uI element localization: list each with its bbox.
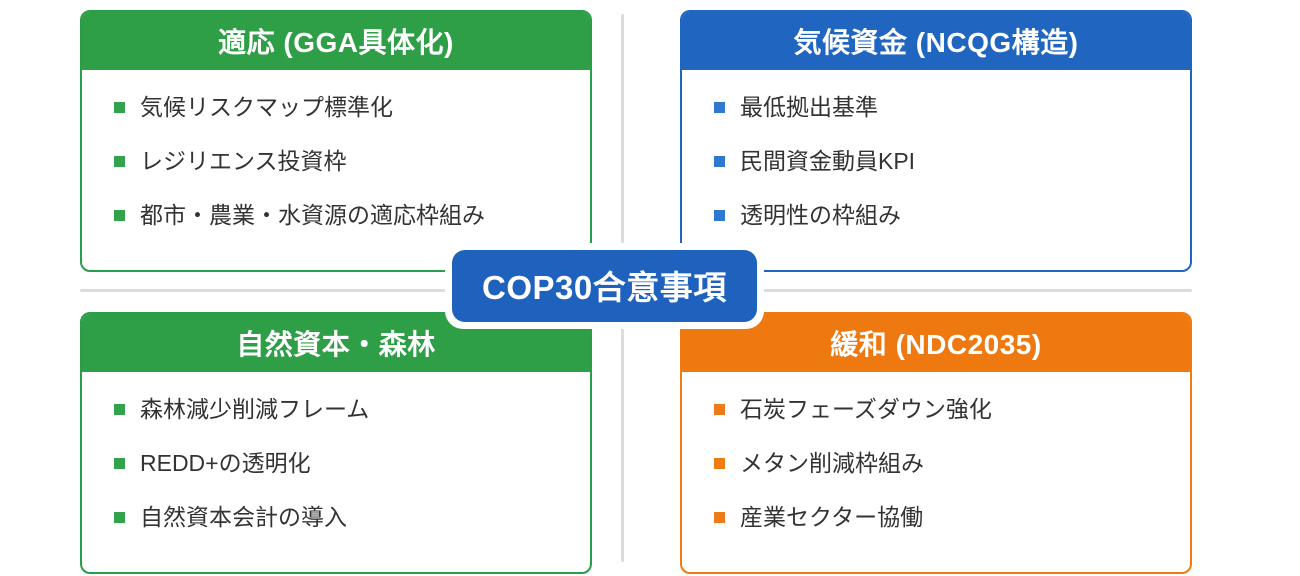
- square-bullet-icon: [114, 210, 125, 221]
- card-adaptation-body: 気候リスクマップ標準化 レジリエンス投資枠 都市・農業・水資源の適応枠組み: [82, 70, 590, 270]
- list-item[interactable]: 都市・農業・水資源の適応枠組み: [114, 200, 564, 231]
- list-item-label: 産業セクター協働: [740, 502, 923, 533]
- center-badge-ring: COP30合意事項: [445, 243, 764, 329]
- list-item-label: メタン削減枠組み: [740, 448, 924, 479]
- list-item[interactable]: 最低拠出基準: [714, 92, 1164, 123]
- list-item-label: レジリエンス投資枠: [140, 146, 347, 177]
- square-bullet-icon: [714, 156, 725, 167]
- square-bullet-icon: [114, 102, 125, 113]
- list-item[interactable]: 民間資金動員KPI: [714, 146, 1164, 177]
- list-item[interactable]: 気候リスクマップ標準化: [114, 92, 564, 123]
- square-bullet-icon: [714, 512, 725, 523]
- card-climate-finance[interactable]: 気候資金 (NCQG構造) 最低拠出基準 民間資金動員KPI 透明性の枠組み: [680, 10, 1192, 272]
- card-adaptation[interactable]: 適応 (GGA具体化) 気候リスクマップ標準化 レジリエンス投資枠 都市・農業・…: [80, 10, 592, 272]
- list-item-label: 自然資本会計の導入: [140, 502, 347, 533]
- list-item-label: 透明性の枠組み: [740, 200, 901, 231]
- square-bullet-icon: [714, 404, 725, 415]
- list-item-label: 気候リスクマップ標準化: [140, 92, 393, 123]
- list-item[interactable]: REDD+の透明化: [114, 448, 564, 479]
- diagram-canvas: 適応 (GGA具体化) 気候リスクマップ標準化 レジリエンス投資枠 都市・農業・…: [0, 0, 1300, 576]
- list-item-label: 民間資金動員KPI: [740, 146, 915, 177]
- card-adaptation-title: 適応 (GGA具体化): [218, 21, 454, 61]
- card-climate-finance-title: 気候資金 (NCQG構造): [794, 21, 1079, 61]
- list-item-label: 森林減少削減フレーム: [140, 394, 369, 425]
- list-item-label: 都市・農業・水資源の適応枠組み: [140, 200, 485, 231]
- center-badge-label: COP30合意事項: [482, 261, 727, 309]
- card-climate-finance-header: 気候資金 (NCQG構造): [682, 12, 1190, 70]
- square-bullet-icon: [114, 404, 125, 415]
- center-badge[interactable]: COP30合意事項: [452, 250, 757, 322]
- card-climate-finance-body: 最低拠出基準 民間資金動員KPI 透明性の枠組み: [682, 70, 1190, 270]
- list-item[interactable]: 石炭フェーズダウン強化: [714, 394, 1164, 425]
- card-mitigation-title: 緩和 (NDC2035): [830, 323, 1041, 363]
- card-mitigation-body: 石炭フェーズダウン強化 メタン削減枠組み 産業セクター協働: [682, 372, 1190, 572]
- card-natural-capital-body: 森林減少削減フレーム REDD+の透明化 自然資本会計の導入: [82, 372, 590, 572]
- square-bullet-icon: [114, 512, 125, 523]
- list-item[interactable]: レジリエンス投資枠: [114, 146, 564, 177]
- list-item[interactable]: メタン削減枠組み: [714, 448, 1164, 479]
- card-mitigation[interactable]: 緩和 (NDC2035) 石炭フェーズダウン強化 メタン削減枠組み 産業セクター…: [680, 312, 1192, 574]
- square-bullet-icon: [714, 102, 725, 113]
- list-item-label: REDD+の透明化: [140, 448, 311, 479]
- card-natural-capital[interactable]: 自然資本・森林 森林減少削減フレーム REDD+の透明化 自然資本会計の導入: [80, 312, 592, 574]
- list-item[interactable]: 透明性の枠組み: [714, 200, 1164, 231]
- list-item[interactable]: 森林減少削減フレーム: [114, 394, 564, 425]
- square-bullet-icon: [114, 156, 125, 167]
- list-item[interactable]: 産業セクター協働: [714, 502, 1164, 533]
- square-bullet-icon: [114, 458, 125, 469]
- square-bullet-icon: [714, 458, 725, 469]
- list-item-label: 最低拠出基準: [740, 92, 878, 123]
- card-natural-capital-title: 自然資本・森林: [236, 323, 436, 363]
- card-adaptation-header: 適応 (GGA具体化): [82, 12, 590, 70]
- list-item-label: 石炭フェーズダウン強化: [740, 394, 992, 425]
- list-item[interactable]: 自然資本会計の導入: [114, 502, 564, 533]
- square-bullet-icon: [714, 210, 725, 221]
